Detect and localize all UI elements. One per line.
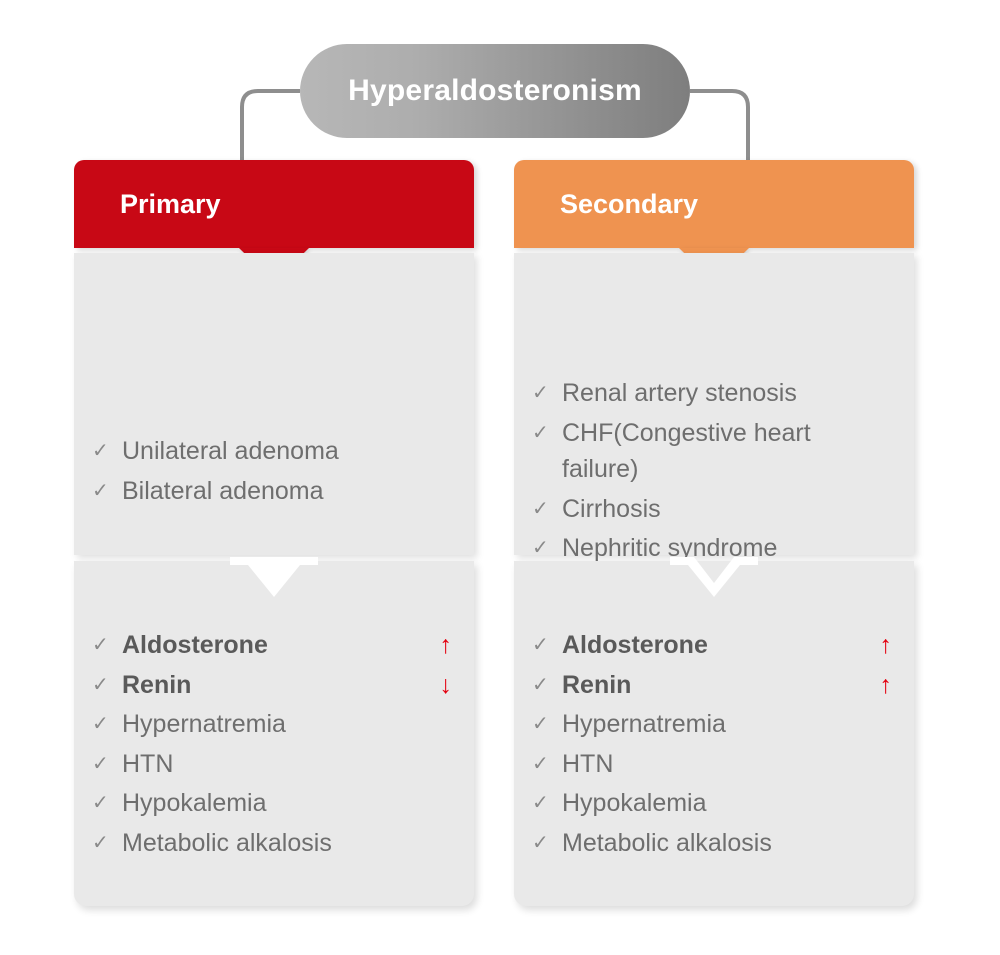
branch-header-label-primary: Primary — [120, 189, 221, 220]
finding-label: Hypokalemia — [562, 785, 892, 822]
check-icon: ✓ — [532, 706, 562, 742]
causes-panel-primary: ✓ Unilateral adenoma ✓ Bilateral adenoma — [74, 253, 474, 555]
root-node-hyperaldosteronism: Hyperaldosteronism — [300, 44, 690, 138]
connector-left — [242, 91, 300, 162]
finding-label: Hypernatremia — [562, 706, 892, 743]
check-icon: ✓ — [92, 433, 122, 469]
list-item: ✓ Renin ↑ — [532, 667, 892, 704]
page-title: Hyperaldosteronism — [348, 74, 642, 108]
causes-list-secondary: ✓ Renal artery stenosis ✓ CHF(Congestive… — [514, 375, 914, 567]
list-item: ✓ Metabolic alkalosis — [92, 825, 452, 862]
check-icon: ✓ — [92, 473, 122, 509]
arrow-up-icon: ↑ — [876, 627, 893, 664]
findings-list-secondary: ✓ Aldosterone ↑ ✓ Renin ↑ ✓ Hypernatremi… — [514, 627, 914, 861]
findings-panel-primary: ✓ Aldosterone ↑ ✓ Renin ↓ ✓ Hypernatremi… — [74, 561, 474, 906]
list-item: ✓ Bilateral adenoma — [92, 473, 452, 510]
connector-right — [690, 91, 748, 162]
arrow-up-icon: ↑ — [436, 627, 453, 664]
list-item: ✓ Cirrhosis — [532, 491, 892, 528]
divider-notch-secondary — [670, 557, 758, 597]
branch-header-secondary[interactable]: Secondary — [514, 160, 914, 248]
list-item: ✓ CHF(Congestive heart failure) — [532, 415, 892, 488]
finding-label: Renin — [122, 667, 436, 704]
list-item: ✓ Aldosterone ↑ — [92, 627, 452, 664]
check-icon: ✓ — [532, 491, 562, 527]
list-item: ✓ Renin ↓ — [92, 667, 452, 704]
findings-panel-secondary: ✓ Aldosterone ↑ ✓ Renin ↑ ✓ Hypernatremi… — [514, 561, 914, 906]
findings-list-primary: ✓ Aldosterone ↑ ✓ Renin ↓ ✓ Hypernatremi… — [74, 627, 474, 861]
finding-label: Metabolic alkalosis — [122, 825, 452, 862]
check-icon: ✓ — [92, 746, 122, 782]
list-item: ✓ HTN — [92, 746, 452, 783]
check-icon: ✓ — [532, 667, 562, 703]
list-item: ✓ Hypokalemia — [92, 785, 452, 822]
cause-label: Cirrhosis — [562, 491, 892, 528]
finding-label: Hypokalemia — [122, 785, 452, 822]
cause-label: Renal artery stenosis — [562, 375, 892, 412]
finding-label: HTN — [122, 746, 452, 783]
finding-label: HTN — [562, 746, 892, 783]
branch-header-primary[interactable]: Primary — [74, 160, 474, 248]
finding-label: Hypernatremia — [122, 706, 452, 743]
finding-label: Renin — [562, 667, 876, 704]
list-item: ✓ Aldosterone ↑ — [532, 627, 892, 664]
list-item: ✓ Hypernatremia — [92, 706, 452, 743]
check-icon: ✓ — [532, 746, 562, 782]
arrow-down-icon: ↓ — [436, 667, 453, 704]
cause-label: CHF(Congestive heart failure) — [562, 415, 892, 488]
causes-panel-secondary: ✓ Renal artery stenosis ✓ CHF(Congestive… — [514, 253, 914, 555]
check-icon: ✓ — [532, 825, 562, 861]
check-icon: ✓ — [532, 785, 562, 821]
check-icon: ✓ — [92, 785, 122, 821]
branch-column-primary: Primary ✓ Unilateral adenoma ✓ Bilateral… — [74, 160, 474, 906]
check-icon: ✓ — [532, 375, 562, 411]
finding-label: Aldosterone — [562, 627, 876, 664]
check-icon: ✓ — [532, 415, 562, 451]
cause-label: Unilateral adenoma — [122, 433, 452, 470]
list-item: ✓ Hypokalemia — [532, 785, 892, 822]
cause-label: Bilateral adenoma — [122, 473, 452, 510]
list-item: ✓ Hypernatremia — [532, 706, 892, 743]
list-item: ✓ Metabolic alkalosis — [532, 825, 892, 862]
check-icon: ✓ — [532, 627, 562, 663]
list-item: ✓ Unilateral adenoma — [92, 433, 452, 470]
check-icon: ✓ — [92, 667, 122, 703]
finding-label: Metabolic alkalosis — [562, 825, 892, 862]
check-icon: ✓ — [92, 706, 122, 742]
check-icon: ✓ — [92, 825, 122, 861]
branch-header-label-secondary: Secondary — [560, 189, 698, 220]
list-item: ✓ HTN — [532, 746, 892, 783]
branch-column-secondary: Secondary ✓ Renal artery stenosis ✓ CHF(… — [514, 160, 914, 906]
finding-label: Aldosterone — [122, 627, 436, 664]
arrow-up-icon: ↑ — [876, 667, 893, 704]
list-item: ✓ Renal artery stenosis — [532, 375, 892, 412]
causes-list-primary: ✓ Unilateral adenoma ✓ Bilateral adenoma — [74, 433, 474, 509]
check-icon: ✓ — [92, 627, 122, 663]
divider-notch-primary — [230, 557, 318, 597]
